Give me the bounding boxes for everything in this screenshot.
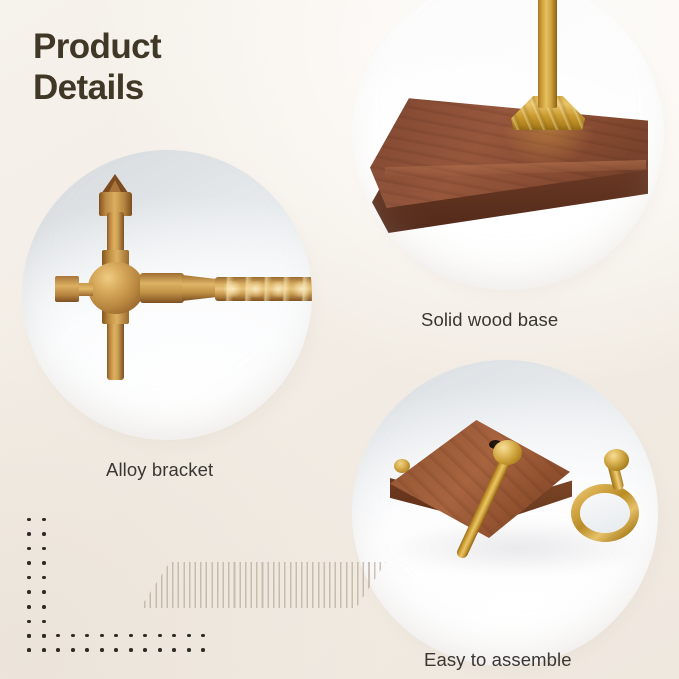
dot <box>37 570 52 585</box>
dot <box>51 628 66 643</box>
dot <box>22 556 37 571</box>
bracket-side-screw <box>55 276 79 302</box>
dot <box>80 628 95 643</box>
bracket-arm-taper <box>182 275 218 301</box>
dot <box>22 527 37 542</box>
brass-ring-ball-connector <box>604 449 629 471</box>
dot <box>153 643 168 658</box>
bracket-screw-neck <box>77 283 93 296</box>
dot <box>182 628 197 643</box>
brass-vertical-rod <box>538 0 557 108</box>
alloy-bracket-artwork <box>22 150 312 440</box>
brass-reflection <box>502 126 594 166</box>
dot <box>66 628 81 643</box>
diagonal-stripe-accent <box>140 562 386 608</box>
dot <box>153 628 168 643</box>
dot <box>124 628 139 643</box>
dot <box>37 600 52 615</box>
solid-wood-base-artwork <box>352 0 664 290</box>
dot <box>182 643 197 658</box>
caption-alloy-bracket: Alloy bracket <box>106 459 213 481</box>
dot <box>22 614 37 629</box>
dot <box>22 600 37 615</box>
bracket-arm-neck <box>140 273 184 303</box>
page-title: Product Details <box>33 27 333 108</box>
caption-solid-wood-base: Solid wood base <box>421 309 558 331</box>
dot <box>95 628 110 643</box>
caption-easy-to-assemble: Easy to assemble <box>424 649 572 671</box>
easy-to-assemble-artwork <box>352 360 658 666</box>
dot <box>80 643 95 658</box>
dot <box>124 643 139 658</box>
product-details-page: Product Details Alloy bracket <box>0 0 679 679</box>
dot <box>37 556 52 571</box>
dot <box>196 628 211 643</box>
dot <box>37 643 52 658</box>
feature-image-alloy-bracket <box>22 150 312 440</box>
dot <box>167 643 182 658</box>
dot <box>22 628 37 643</box>
dot <box>37 614 52 629</box>
dot <box>22 512 37 527</box>
feature-image-easy-to-assemble <box>352 360 658 666</box>
dot <box>37 628 52 643</box>
dot <box>66 643 81 658</box>
dot <box>109 628 124 643</box>
brass-ring-inner-area <box>580 493 630 533</box>
dot <box>22 643 37 658</box>
dot <box>196 643 211 658</box>
dot <box>138 628 153 643</box>
brass-rod-ball-cap <box>493 440 522 465</box>
dot <box>138 643 153 658</box>
dot <box>22 585 37 600</box>
dot <box>37 527 52 542</box>
dot <box>22 570 37 585</box>
dot <box>37 512 52 527</box>
dot <box>37 541 52 556</box>
brass-rod-part <box>502 456 574 562</box>
dot <box>167 628 182 643</box>
dot <box>95 643 110 658</box>
dot-grid-horizontal <box>22 628 211 657</box>
dot <box>109 643 124 658</box>
bracket-arm-pattern <box>221 281 312 297</box>
dot <box>37 585 52 600</box>
bracket-sphere-joint <box>88 262 144 314</box>
brass-rod-tip <box>394 459 410 473</box>
dot <box>51 643 66 658</box>
dot <box>22 541 37 556</box>
feature-image-solid-wood-base <box>352 0 664 290</box>
